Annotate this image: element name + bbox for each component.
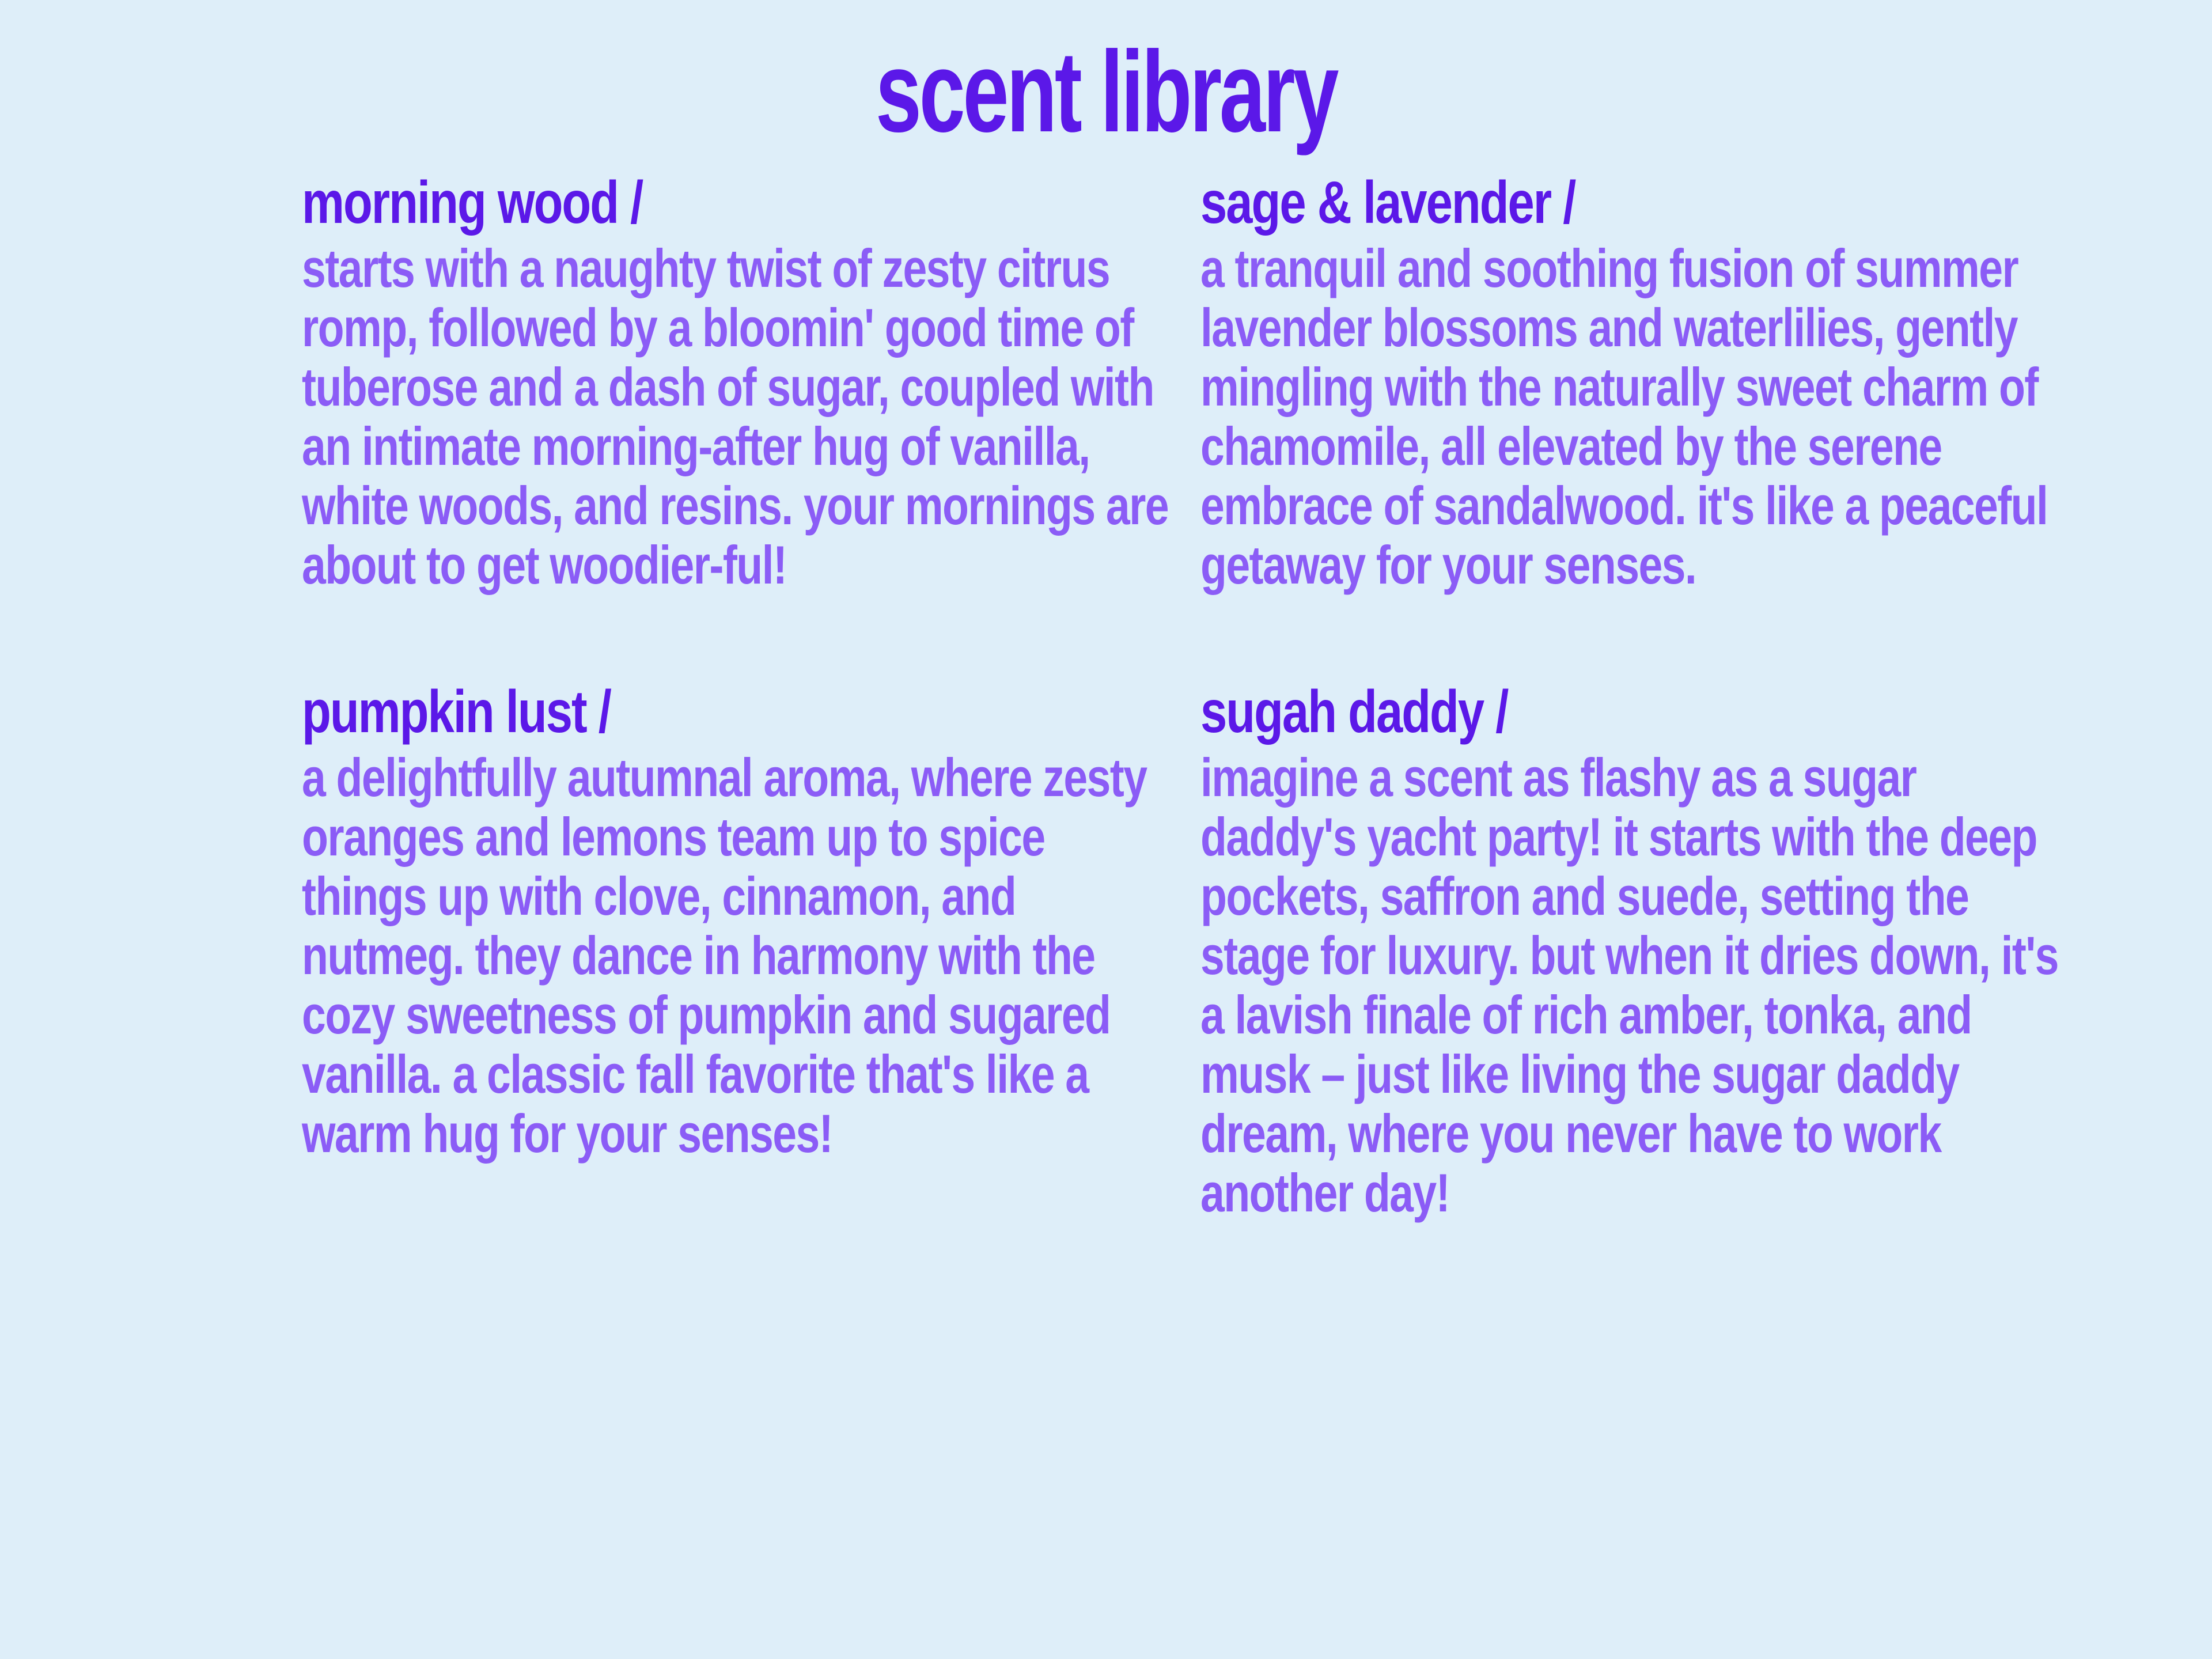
scent-description: a delightfully autumnal aroma, where zes… — [302, 748, 1173, 1163]
scent-card-pumpkin-lust: pumpkin lust / a delightfully autumnal a… — [302, 594, 1172, 1222]
scent-description: starts with a naughty twist of zesty cit… — [302, 238, 1173, 594]
scent-description: imagine a scent as flashy as a sugar dad… — [1200, 748, 2071, 1222]
scent-card-morning-wood: morning wood / starts with a naughty twi… — [302, 173, 1172, 594]
scent-grid: morning wood / starts with a naughty twi… — [0, 173, 2212, 1222]
scent-name: sage & lavender / — [1200, 173, 1896, 233]
scent-name: sugah daddy / — [1200, 682, 1896, 742]
scent-name: morning wood / — [302, 173, 998, 233]
scent-name: pumpkin lust / — [302, 682, 998, 742]
scent-library-page: scent library morning wood / starts with… — [0, 0, 2212, 1659]
scent-card-sage-and-lavender: sage & lavender / a tranquil and soothin… — [1200, 173, 2070, 594]
scent-description: a tranquil and soothing fusion of summer… — [1200, 238, 2071, 594]
scent-card-sugah-daddy: sugah daddy / imagine a scent as flashy … — [1200, 594, 2070, 1222]
page-title: scent library — [310, 35, 1903, 150]
